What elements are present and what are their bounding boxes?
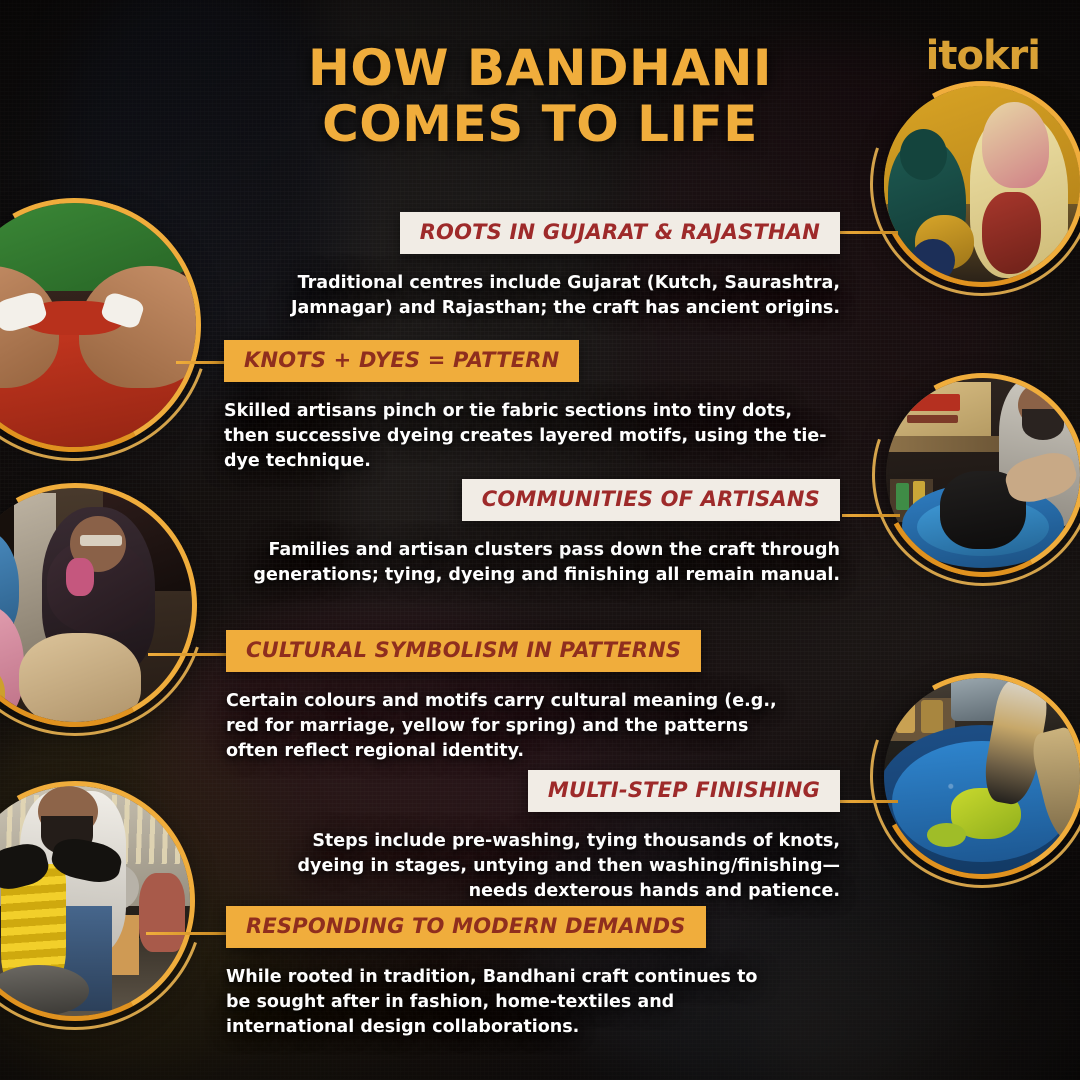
connector-line-2 — [176, 361, 228, 364]
photo-dyer-yellow-fabric — [0, 786, 190, 1016]
section-heading-2: KNOTS + DYES = PATTERN — [224, 340, 579, 382]
section-body-5: Steps include pre-washing, tying thousan… — [260, 829, 840, 904]
page-title-line-1: HOW BANDHANI — [308, 39, 772, 97]
section-responding-to-modern-demands: RESPONDING TO MODERN DEMANDS While roote… — [226, 906, 846, 1040]
section-heading-6: RESPONDING TO MODERN DEMANDS — [226, 906, 706, 948]
section-cultural-symbolism-in-patterns: CULTURAL SYMBOLISM IN PATTERNS Certain c… — [226, 630, 846, 764]
photo-artisan-women-outdoors — [0, 488, 192, 722]
section-body-1: Traditional centres include Gujarat (Kut… — [240, 271, 840, 321]
connector-line-5 — [840, 800, 898, 803]
photo-hands-tying-red-fabric — [0, 203, 196, 447]
connector-line-3 — [148, 653, 226, 656]
section-body-2: Skilled artisans pinch or tie fabric sec… — [224, 399, 839, 474]
section-heading-3: COMMUNITIES OF ARTISANS — [462, 479, 840, 521]
photo-blue-dye-vat — [884, 678, 1080, 874]
section-roots-in-gujarat-rajasthan: ROOTS IN GUJARAT & RAJASTHAN Traditional… — [240, 212, 840, 321]
section-body-6: While rooted in tradition, Bandhani craf… — [226, 965, 786, 1040]
section-heading-1: ROOTS IN GUJARAT & RAJASTHAN — [400, 212, 840, 254]
section-communities-of-artisans: COMMUNITIES OF ARTISANS Families and art… — [240, 479, 840, 588]
section-multi-step-finishing: MULTI-STEP FINISHING Steps include pre-w… — [260, 770, 840, 904]
section-body-3: Families and artisan clusters pass down … — [240, 538, 840, 588]
connector-line-1 — [838, 231, 898, 234]
section-knots-dyes-pattern: KNOTS + DYES = PATTERN Skilled artisans … — [224, 340, 844, 474]
photo-women-tying-knots — [884, 86, 1080, 282]
infographic-poster: itokri HOW BANDHANI COMES TO LIFE — [0, 0, 1080, 1080]
section-body-4: Certain colours and motifs carry cultura… — [226, 689, 786, 764]
section-heading-5: MULTI-STEP FINISHING — [528, 770, 840, 812]
connector-line-6 — [146, 932, 226, 935]
photo-dyer-blue-tub — [886, 378, 1080, 572]
connector-line-4 — [842, 514, 900, 517]
section-heading-4: CULTURAL SYMBOLISM IN PATTERNS — [226, 630, 701, 672]
